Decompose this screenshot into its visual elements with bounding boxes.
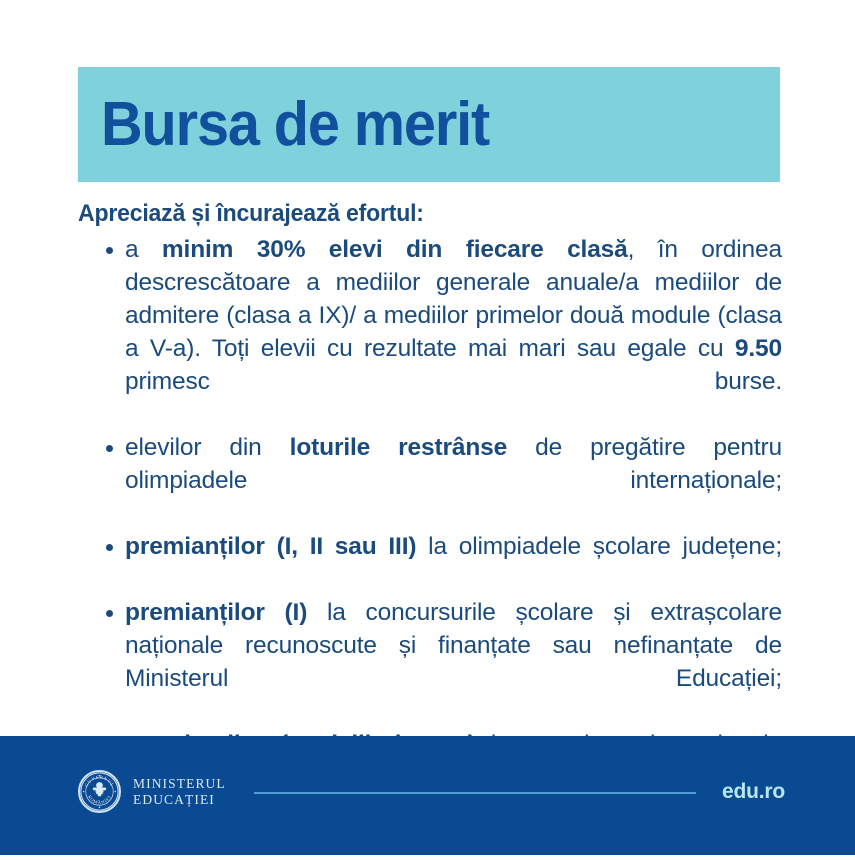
lead-paragraph: Apreciază și încurajează efortul: xyxy=(78,198,754,230)
footer-bar: GUVERNUL ROMÂNIEI MINISTERUL EDUCAȚIEI e… xyxy=(0,736,855,855)
emphasis-text: loturile restrânse xyxy=(290,434,507,461)
ministry-wordmark: MINISTERUL EDUCAȚIEI xyxy=(133,776,226,808)
list-item: premianților (I) la concursurile școlare… xyxy=(78,596,782,728)
emphasis-text: 9.50 xyxy=(735,335,782,362)
emphasis-text: minim 30% elevi din fiecare clasă xyxy=(162,236,628,263)
list-item: elevilor din loturile restrânse de pregă… xyxy=(78,431,782,530)
body-text: primesc burse. xyxy=(125,368,782,395)
emphasis-text: premianților (I, II sau III) xyxy=(125,533,416,560)
ministry-line-1: MINISTERUL xyxy=(133,776,226,792)
body-text: elevilor din xyxy=(125,434,290,461)
poster-canvas: Bursa de merit Apreciază și încurajează … xyxy=(0,0,855,855)
list-item: premianților (I, II sau III) la olimpiad… xyxy=(78,530,782,596)
emphasis-text: premianților (I) xyxy=(125,599,307,626)
government-seal-icon: GUVERNUL ROMÂNIEI xyxy=(78,770,121,813)
ministry-line-2: EDUCAȚIEI xyxy=(133,792,226,808)
website-link[interactable]: edu.ro xyxy=(722,780,785,804)
list-item: a minim 30% elevi din fiecare clasă, în … xyxy=(78,233,782,431)
body-text: la olimpiadele școlare județene; xyxy=(416,533,782,560)
body-text: a xyxy=(125,236,162,263)
page-title: Bursa de merit xyxy=(101,94,489,156)
title-banner: Bursa de merit xyxy=(78,67,780,182)
footer-divider xyxy=(254,792,696,794)
footer-content: GUVERNUL ROMÂNIEI MINISTERUL EDUCAȚIEI e… xyxy=(78,770,785,813)
